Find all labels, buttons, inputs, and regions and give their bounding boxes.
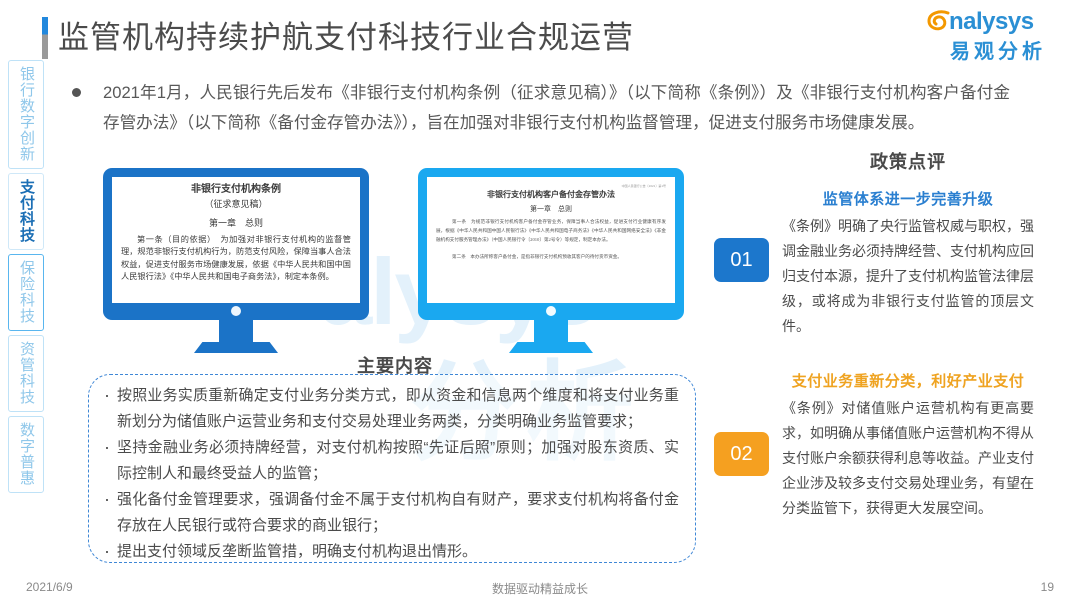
- commentary-body: 《条例》对储值账户运营机构有更高要求，如明确从事储值账户运营机构不得从支付账户余…: [782, 397, 1034, 522]
- monitor-screen: 非银行支付机构条例 （征求意见稿） 第一章 总则 第一条（目的依据） 为加强对非…: [103, 168, 369, 320]
- intro-bullet: 2021年1月，人民银行先后发布《非银行支付机构条例（征求意见稿）》（以下简称《…: [72, 78, 1010, 138]
- category-sidebar: 银行数字创新 支付科技 保险科技 资管科技 数字普惠: [6, 60, 48, 497]
- policy-commentary-panel: 政策点评 监管体系进一步完善升级 《条例》明确了央行监管权威与职权，强调金融业务…: [782, 148, 1034, 522]
- sidebar-item-insurance-tech[interactable]: 保险科技: [8, 254, 44, 331]
- bullet-dot-icon: [72, 88, 81, 97]
- document-title: 非银行支付机构条例: [121, 183, 351, 197]
- monitor-regulation-document: 非银行支付机构条例 （征求意见稿） 第一章 总则 第一条（目的依据） 为加强对非…: [103, 168, 369, 353]
- document-body-second: 第二条 本办法所称客户备付金，是指非银行支付机构预收其客户的待付货币资金。: [436, 252, 666, 261]
- document-body: 第一条（目的依据） 为加强对非银行支付机构的监督管理，规范非银行支付机构行为，防…: [121, 234, 351, 284]
- monitor-power-dot-icon: [546, 306, 556, 316]
- sidebar-item-label: 资管科技: [17, 341, 35, 405]
- step-badge-02: 02: [714, 432, 769, 476]
- footer-page-number: 19: [1041, 580, 1054, 594]
- commentary-block-1: 监管体系进一步完善升级 《条例》明确了央行监管权威与职权，强调金融业务必须持牌经…: [782, 188, 1034, 340]
- sidebar-item-label: 支付科技: [17, 179, 35, 243]
- commentary-body: 《条例》明确了央行监管权威与职权，强调金融业务必须持牌经营、支付机构应回归支付本…: [782, 215, 1034, 340]
- monitor-base: [194, 342, 278, 353]
- document-chapter: 第一章 总则: [121, 212, 351, 234]
- logo-english-text: nalysys: [949, 8, 1034, 36]
- main-content-item: 按照业务实质重新确定支付业务分类方式，即从资金和信息两个维度和将支付业务重新划分…: [102, 383, 679, 435]
- sidebar-item-label: 数字普惠: [17, 422, 35, 486]
- slide-footer: 2021/6/9 数据驱动精益成长 19: [0, 580, 1080, 600]
- document-subtitle: （征求意见稿）: [121, 197, 351, 212]
- sidebar-item-label: 银行数字创新: [17, 66, 35, 162]
- slide-root: alysys 分析 监管机构持续护航支付科技行业合规运营 nalysys 易观分…: [0, 0, 1080, 608]
- monitor-base: [509, 342, 593, 353]
- main-content-item: 强化备付金管理要求，强调备付金不属于支付机构自有财产，要求支付机构将备付金存放在…: [102, 487, 679, 539]
- sidebar-item-digital-inclusive-finance[interactable]: 数字普惠: [8, 416, 44, 493]
- main-content-item: 坚持金融业务必须持牌经营，对支付机构按照“先证后照”原则；加强对股东资质、实际控…: [102, 435, 679, 487]
- sidebar-item-bank-digital[interactable]: 银行数字创新: [8, 60, 44, 169]
- monitor-neck: [219, 320, 253, 342]
- document-body: 第一条 为规范非银行支付机构客户备付金存管业务，保障当事人合法权益，促进支付行业…: [436, 217, 666, 244]
- intro-bullet-text: 2021年1月，人民银行先后发布《非银行支付机构条例（征求意见稿）》（以下简称《…: [103, 78, 1010, 138]
- commentary-heading: 监管体系进一步完善升级: [782, 188, 1034, 209]
- main-content-item: 提出支付领域反垄断监管措，明确支付机构退出情形。: [102, 539, 679, 565]
- monitor-power-dot-icon: [231, 306, 241, 316]
- sidebar-item-payment-tech[interactable]: 支付科技: [8, 173, 44, 250]
- document-title: 非银行支付机构客户备付金存管办法: [436, 189, 666, 201]
- step-badge-01: 01: [714, 238, 769, 282]
- monitor-screen: 中国人民银行公告〔2021〕第1号 非银行支付机构客户备付金存管办法 第一章 总…: [418, 168, 684, 320]
- commentary-block-2: 支付业务重新分类，利好产业支付 《条例》对储值账户运营机构有更高要求，如明确从事…: [782, 370, 1034, 522]
- commentary-title: 政策点评: [782, 148, 1034, 174]
- main-content-heading: 主要内容: [300, 352, 490, 378]
- commentary-heading: 支付业务重新分类，利好产业支付: [782, 370, 1034, 391]
- logo-chinese-text: 易观分析: [950, 35, 1046, 64]
- document-page: 非银行支付机构条例 （征求意见稿） 第一章 总则 第一条（目的依据） 为加强对非…: [112, 177, 360, 303]
- sidebar-item-label: 保险科技: [17, 260, 35, 324]
- sidebar-item-asset-management-tech[interactable]: 资管科技: [8, 335, 44, 412]
- monitor-custody-document: 中国人民银行公告〔2021〕第1号 非银行支付机构客户备付金存管办法 第一章 总…: [418, 168, 684, 353]
- monitor-neck: [534, 320, 568, 342]
- page-title: 监管机构持续护航支付科技行业合规运营: [58, 16, 634, 60]
- main-content-box: 按照业务实质重新确定支付业务分类方式，即从资金和信息两个维度和将支付业务重新划分…: [88, 374, 696, 563]
- document-page: 中国人民银行公告〔2021〕第1号 非银行支付机构客户备付金存管办法 第一章 总…: [427, 177, 675, 303]
- footer-slogan: 数据驱动精益成长: [0, 580, 1080, 597]
- analysys-logo: nalysys 易观分析: [926, 8, 1058, 62]
- document-chapter: 第一章 总则: [436, 201, 666, 217]
- title-accent-bar: [42, 17, 48, 59]
